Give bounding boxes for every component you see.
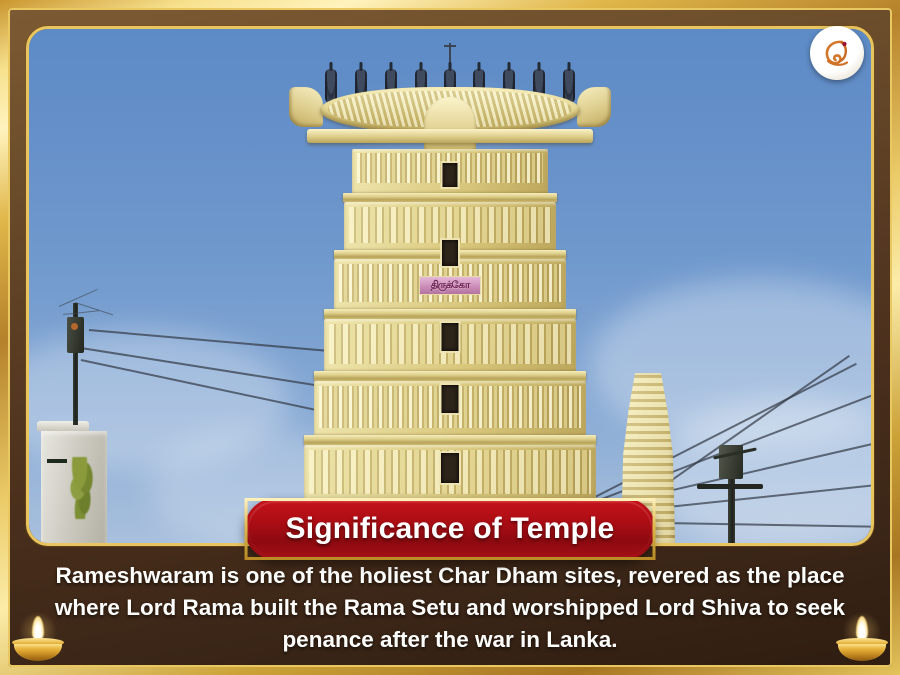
ganesha-om-icon bbox=[817, 33, 857, 73]
tower-window bbox=[443, 163, 458, 187]
lamp-bowl bbox=[14, 644, 62, 661]
temple-photograph: திருக்கோ bbox=[29, 29, 871, 543]
tier-carving-band bbox=[349, 207, 551, 243]
gopuram-tower: திருக்கோ bbox=[285, 57, 615, 543]
title-banner: Significance of Temple bbox=[245, 498, 656, 560]
lamp-bowl bbox=[838, 644, 886, 661]
diya-lamp-right bbox=[836, 617, 888, 661]
pole-crossarm bbox=[697, 484, 763, 489]
makara-volute bbox=[289, 87, 323, 127]
tower-window bbox=[442, 385, 459, 413]
vault-center-crest bbox=[424, 97, 476, 153]
building-roof bbox=[37, 421, 89, 431]
mast-equipment-box bbox=[67, 317, 84, 353]
tower-window bbox=[442, 240, 458, 266]
temple-info-poster: திருக்கோ Significance of Temple Rameshwa… bbox=[0, 0, 900, 675]
building-vent bbox=[47, 459, 67, 463]
tower-window bbox=[442, 323, 459, 351]
tier-cornice bbox=[314, 371, 586, 381]
tower-window bbox=[441, 453, 459, 483]
antenna-wire bbox=[75, 302, 113, 315]
photo-frame: திருக்கோ bbox=[26, 26, 874, 546]
vault-base-cornice bbox=[307, 129, 593, 143]
signboard-text: திருக்கோ bbox=[431, 280, 470, 292]
wall-plant bbox=[67, 457, 97, 519]
antenna-wire bbox=[63, 310, 99, 315]
tier-cornice bbox=[343, 193, 557, 202]
makara-volute bbox=[577, 87, 611, 127]
page-title: Significance of Temple bbox=[286, 512, 615, 546]
tier-cornice bbox=[324, 309, 576, 319]
diya-lamp-left bbox=[12, 617, 64, 661]
ganesha-om-logo[interactable] bbox=[810, 26, 864, 80]
side-building bbox=[41, 431, 107, 543]
temple-signboard: திருக்கோ bbox=[419, 276, 481, 295]
description-text: Rameshwaram is one of the holiest Char D… bbox=[28, 560, 872, 656]
tier-cornice bbox=[304, 435, 596, 445]
